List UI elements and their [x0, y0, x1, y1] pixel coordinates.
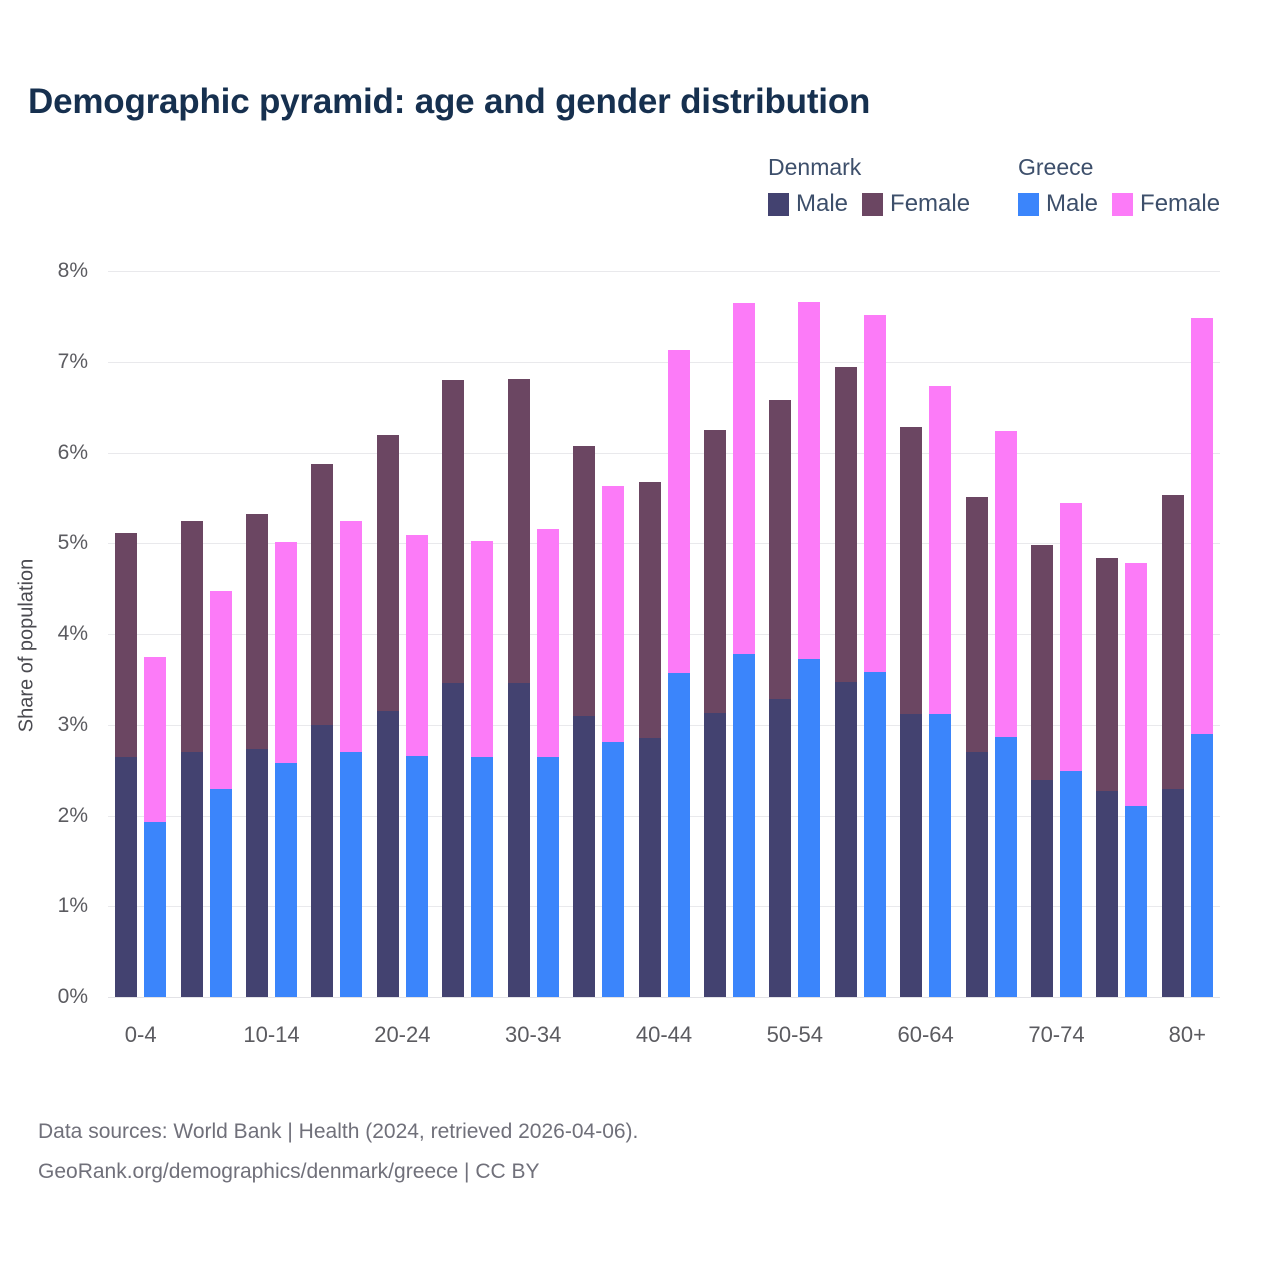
footer-attribution: GeoRank.org/demographics/denmark/greece …: [38, 1152, 638, 1192]
bar-denmark-female-segment[interactable]: [1031, 545, 1053, 780]
bar-greece-male-segment[interactable]: [798, 659, 820, 997]
bar-greece-female-segment[interactable]: [471, 541, 493, 757]
bar-greece[interactable]: [144, 657, 166, 997]
x-axis-tick: 50-54: [767, 1022, 823, 1048]
bar-denmark-female-segment[interactable]: [311, 464, 333, 724]
legend-swatch-denmark-female: [862, 193, 883, 216]
x-axis-tick: 60-64: [898, 1022, 954, 1048]
x-axis-tick: 70-74: [1028, 1022, 1084, 1048]
bar-denmark-male-segment[interactable]: [181, 752, 203, 997]
bar-greece-male-segment[interactable]: [864, 672, 886, 997]
bar-denmark-male-segment[interactable]: [311, 725, 333, 997]
bar-greece[interactable]: [798, 302, 820, 997]
legend-country-denmark: Denmark: [768, 152, 970, 182]
bar-greece-female-segment[interactable]: [537, 529, 559, 757]
legend-item-denmark-female[interactable]: Female: [862, 190, 970, 218]
bar-denmark-male-segment[interactable]: [835, 682, 857, 997]
bar-greece-male-segment[interactable]: [406, 756, 428, 997]
bar-denmark[interactable]: [704, 430, 726, 997]
bar-greece-female-segment[interactable]: [668, 350, 690, 673]
bar-greece[interactable]: [406, 535, 428, 997]
y-axis-tick: 7%: [58, 350, 88, 374]
bar-greece-male-segment[interactable]: [340, 752, 362, 997]
y-axis-tick: 6%: [58, 441, 88, 465]
bar-greece[interactable]: [340, 521, 362, 997]
bar-greece[interactable]: [1191, 318, 1213, 997]
bar-greece[interactable]: [1125, 563, 1147, 997]
bar-greece-female-segment[interactable]: [1060, 503, 1082, 771]
legend-swatch-greece-male: [1018, 193, 1039, 216]
bar-greece-female-segment[interactable]: [340, 521, 362, 752]
bar-greece-female-segment[interactable]: [1125, 563, 1147, 805]
bar-denmark-female-segment[interactable]: [1162, 495, 1184, 789]
legend-item-greece-male[interactable]: Male: [1018, 190, 1098, 218]
bar-greece-female-segment[interactable]: [1191, 318, 1213, 734]
y-axis-tick: 3%: [58, 713, 88, 737]
bar-greece-female-segment[interactable]: [275, 542, 297, 763]
y-axis-tick: 8%: [58, 259, 88, 283]
legend-item-denmark-male[interactable]: Male: [768, 190, 848, 218]
bar-greece[interactable]: [929, 386, 951, 997]
plot-area: [108, 271, 1220, 997]
bar-greece-female-segment[interactable]: [995, 431, 1017, 738]
bar-greece-male-segment[interactable]: [995, 737, 1017, 997]
x-axis-tick: 30-34: [505, 1022, 561, 1048]
bar-greece[interactable]: [1060, 503, 1082, 997]
legend-label-denmark-female: Female: [890, 190, 970, 218]
bar-denmark-female-segment[interactable]: [1096, 558, 1118, 791]
bar-denmark-male-segment[interactable]: [508, 683, 530, 997]
bar-greece-male-segment[interactable]: [1191, 734, 1213, 997]
bar-greece-female-segment[interactable]: [929, 386, 951, 714]
legend-label-greece-female: Female: [1140, 190, 1220, 218]
x-axis-tick-labels: 0-410-1420-2430-3440-4450-5460-6470-7480…: [108, 1022, 1220, 1062]
bar-denmark-male-segment[interactable]: [246, 749, 268, 997]
bar-greece-male-segment[interactable]: [144, 822, 166, 997]
bar-greece[interactable]: [210, 591, 232, 997]
bar-greece-female-segment[interactable]: [864, 315, 886, 672]
bar-denmark-female-segment[interactable]: [835, 367, 857, 682]
bar-greece-male-segment[interactable]: [1060, 771, 1082, 997]
bar-denmark-male-segment[interactable]: [769, 699, 791, 997]
bar-denmark-female-segment[interactable]: [900, 427, 922, 714]
bar-denmark[interactable]: [508, 379, 530, 997]
bar-greece-male-segment[interactable]: [602, 742, 624, 997]
bar-greece-female-segment[interactable]: [406, 535, 428, 756]
bar-greece[interactable]: [602, 486, 624, 997]
x-axis-tick: 20-24: [374, 1022, 430, 1048]
bar-denmark-male-segment[interactable]: [1096, 791, 1118, 997]
bar-greece-female-segment[interactable]: [210, 591, 232, 789]
bar-denmark-female-segment[interactable]: [377, 435, 399, 711]
x-axis-tick: 40-44: [636, 1022, 692, 1048]
x-axis-tick: 0-4: [125, 1022, 157, 1048]
legend-label-denmark-male: Male: [796, 190, 848, 218]
bar-denmark-female-segment[interactable]: [181, 521, 203, 752]
gridline: [108, 997, 1220, 998]
bar-denmark-male-segment[interactable]: [900, 714, 922, 997]
bar-denmark[interactable]: [639, 482, 661, 997]
y-axis-tick-labels: 0%1%2%3%4%5%6%7%8%: [0, 271, 100, 997]
bar-greece-male-segment[interactable]: [1125, 806, 1147, 997]
bar-denmark[interactable]: [1031, 545, 1053, 997]
bar-denmark[interactable]: [1096, 558, 1118, 997]
bar-denmark-female-segment[interactable]: [966, 497, 988, 752]
bar-denmark-male-segment[interactable]: [442, 683, 464, 997]
bar-denmark-male-segment[interactable]: [573, 716, 595, 997]
x-axis-tick: 10-14: [243, 1022, 299, 1048]
bar-denmark-female-segment[interactable]: [246, 514, 268, 749]
legend-item-greece-female[interactable]: Female: [1112, 190, 1220, 218]
y-axis-tick: 0%: [58, 985, 88, 1009]
bar-greece-male-segment[interactable]: [537, 757, 559, 997]
bar-denmark-female-segment[interactable]: [639, 482, 661, 738]
legend-group-denmark: Denmark Male Female: [768, 152, 970, 218]
bar-denmark-male-segment[interactable]: [377, 711, 399, 997]
bar-greece-female-segment[interactable]: [602, 486, 624, 742]
bar-greece-female-segment[interactable]: [798, 302, 820, 660]
bar-greece-male-segment[interactable]: [275, 763, 297, 997]
legend-country-greece: Greece: [1018, 152, 1220, 182]
y-axis-tick: 5%: [58, 531, 88, 555]
bar-denmark[interactable]: [115, 533, 137, 997]
bar-greece-female-segment[interactable]: [733, 303, 755, 654]
chart-footer: Data sources: World Bank | Health (2024,…: [38, 1112, 638, 1192]
legend-swatch-greece-female: [1112, 193, 1133, 216]
bar-denmark[interactable]: [1162, 495, 1184, 997]
bar-denmark[interactable]: [311, 464, 333, 997]
legend-group-greece: Greece Male Female: [1018, 152, 1220, 218]
chart-legend: Denmark Male Female Greece Male Female: [760, 152, 1260, 232]
bar-denmark-male-segment[interactable]: [639, 738, 661, 997]
bar-denmark-female-segment[interactable]: [704, 430, 726, 713]
x-axis-tick: 80+: [1169, 1022, 1206, 1048]
bar-denmark[interactable]: [246, 514, 268, 997]
bar-greece[interactable]: [864, 315, 886, 997]
y-axis-tick: 1%: [58, 894, 88, 918]
bar-denmark-female-segment[interactable]: [115, 533, 137, 757]
bar-greece-male-segment[interactable]: [668, 673, 690, 997]
bar-denmark[interactable]: [966, 497, 988, 997]
bar-greece[interactable]: [733, 303, 755, 997]
bar-denmark[interactable]: [769, 400, 791, 997]
bar-denmark[interactable]: [442, 380, 464, 997]
bar-denmark-female-segment[interactable]: [769, 400, 791, 699]
bar-denmark-female-segment[interactable]: [573, 446, 595, 716]
bar-denmark[interactable]: [573, 446, 595, 997]
bar-greece-female-segment[interactable]: [144, 657, 166, 822]
bar-denmark-male-segment[interactable]: [966, 752, 988, 997]
bar-greece[interactable]: [537, 529, 559, 997]
bar-greece-male-segment[interactable]: [471, 757, 493, 997]
bar-denmark[interactable]: [900, 427, 922, 997]
bar-denmark-male-segment[interactable]: [1162, 789, 1184, 997]
bar-greece[interactable]: [471, 541, 493, 997]
page-title: Demographic pyramid: age and gender dist…: [28, 82, 870, 122]
legend-label-greece-male: Male: [1046, 190, 1098, 218]
legend-swatch-denmark-male: [768, 193, 789, 216]
bar-denmark-male-segment[interactable]: [704, 713, 726, 997]
bar-greece-male-segment[interactable]: [210, 789, 232, 997]
bar-denmark-female-segment[interactable]: [442, 380, 464, 683]
bar-denmark[interactable]: [181, 521, 203, 997]
bar-greece-male-segment[interactable]: [929, 714, 951, 997]
bar-greece[interactable]: [995, 431, 1017, 997]
bar-denmark[interactable]: [835, 367, 857, 997]
footer-data-sources: Data sources: World Bank | Health (2024,…: [38, 1112, 638, 1152]
y-axis-tick: 2%: [58, 804, 88, 828]
bar-denmark[interactable]: [377, 435, 399, 997]
bar-denmark-male-segment[interactable]: [115, 757, 137, 997]
bars-layer: [108, 271, 1220, 997]
bar-denmark-male-segment[interactable]: [1031, 780, 1053, 997]
bar-greece[interactable]: [668, 350, 690, 997]
bar-denmark-female-segment[interactable]: [508, 379, 530, 683]
bar-greece-male-segment[interactable]: [733, 654, 755, 997]
y-axis-tick: 4%: [58, 622, 88, 646]
bar-greece[interactable]: [275, 542, 297, 997]
